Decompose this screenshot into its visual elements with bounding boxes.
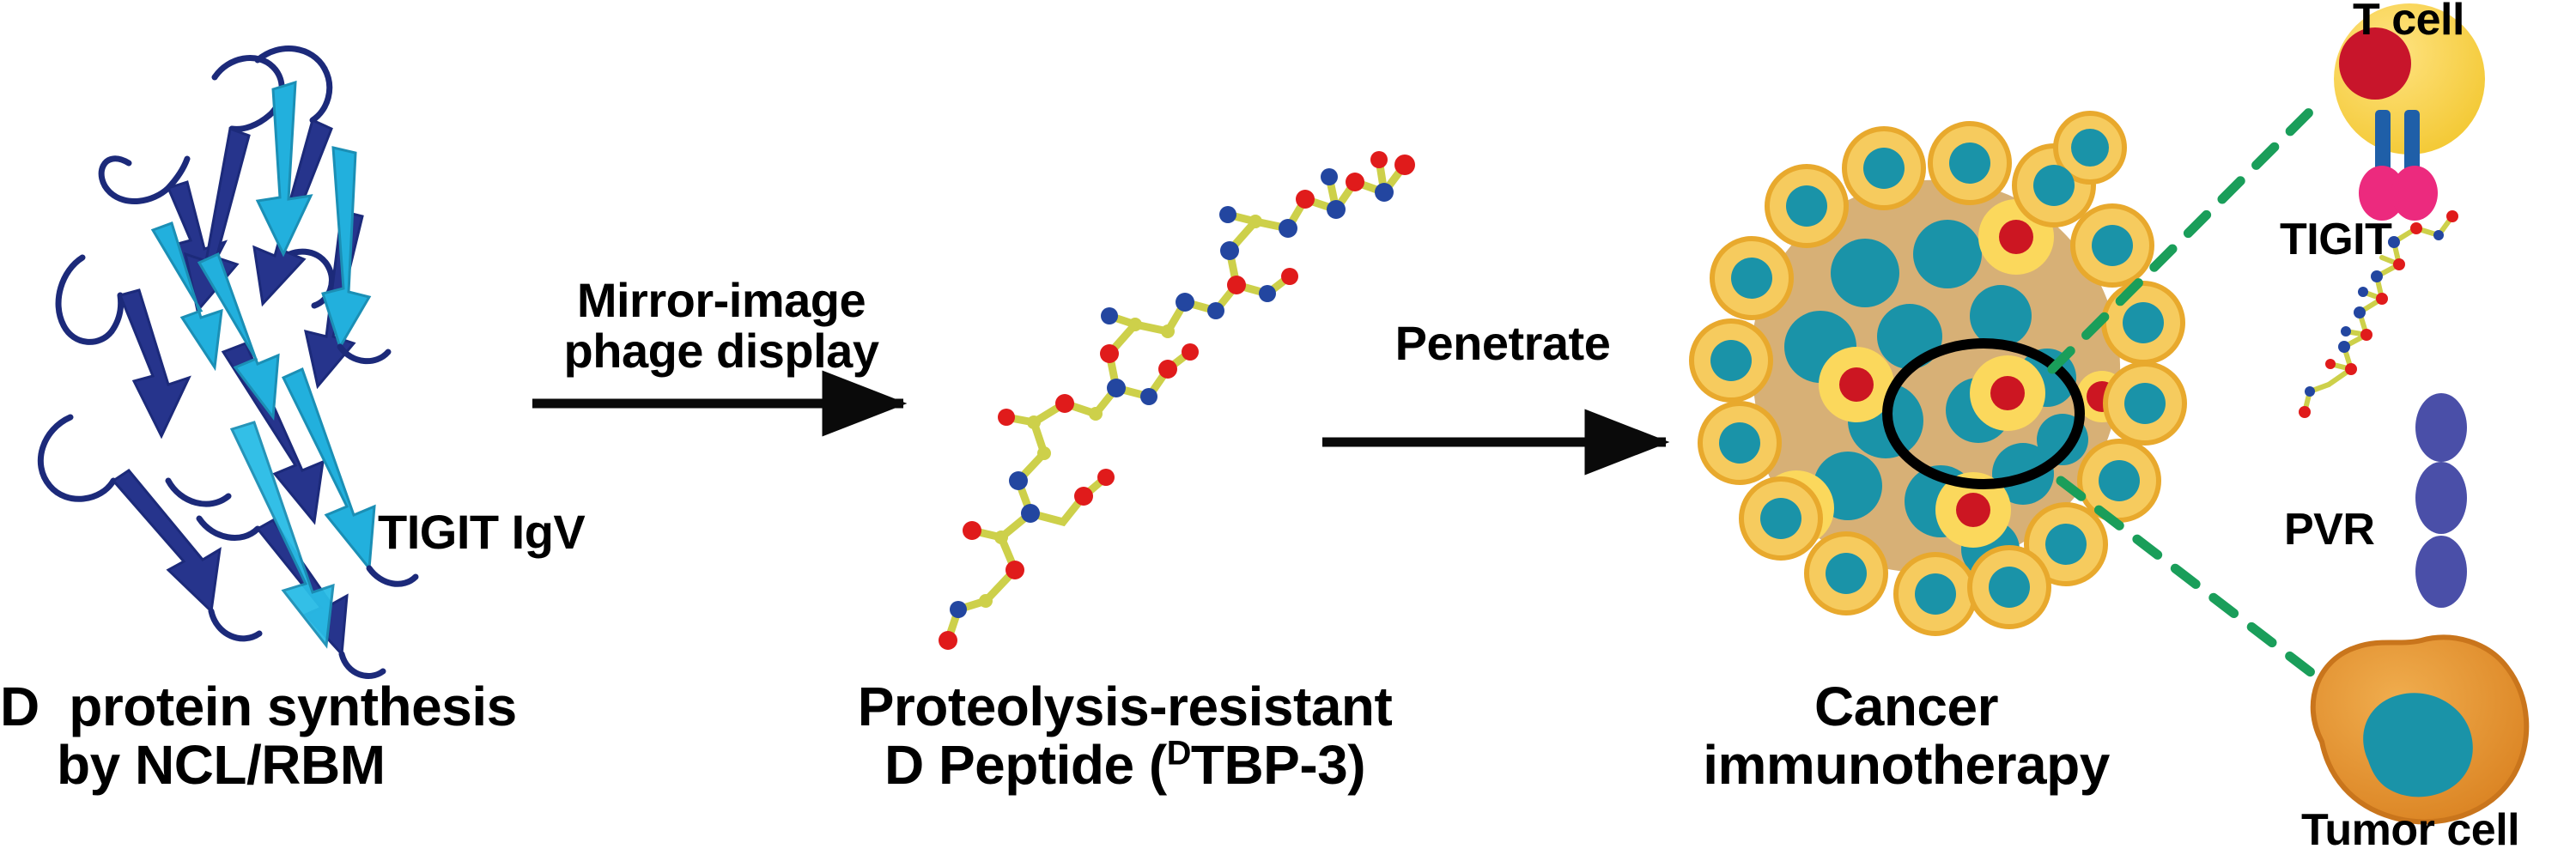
inset-label-t-cell: T cell (2353, 0, 2464, 44)
dashed-leader-line-icon (2052, 112, 2318, 678)
infiltrating-t-cell (1759, 199, 2128, 548)
panel-caption-left: D protein synthesisby NCL/RBM (0, 678, 601, 795)
arrow1-line1: Mirror-image (577, 273, 866, 327)
caption-right-line2: immunotherapy (1703, 734, 2110, 796)
caption-mid-line1: Proteolysis-resistant (858, 676, 1393, 737)
tigit-igv-ribbon-structure (40, 49, 416, 676)
arrow-label-penetrate: Penetrate (1322, 318, 1683, 368)
inset-pvr-receptor (2415, 393, 2467, 687)
d-peptide-ball-and-stick-model (939, 151, 1415, 650)
tumor-mass-with-infiltrating-t-cells (1692, 113, 2184, 634)
caption-right-line1: Cancer (1814, 676, 1998, 737)
inset-tumor-cell (2313, 638, 2527, 822)
tumor-cell-rim (1692, 113, 2184, 634)
magnifier-ring-icon (1887, 343, 2080, 484)
inset-tigit-receptor (2359, 110, 2438, 221)
caption-mid-line2-post: TBP-3) (1191, 734, 1365, 796)
tigit-igv-structure-label: TIGIT IgV (378, 506, 585, 557)
caption-left-line1: D protein synthesis (0, 676, 517, 737)
caption-mid-line2-pre: D Peptide ( (884, 734, 1167, 796)
arrow-label-mirror-image-phage-display: Mirror-imagephage display (532, 275, 910, 377)
arrow1-line2: phage display (564, 324, 879, 378)
caption-left-line2: by NCL/RBM (0, 737, 601, 795)
scientific-figure: D protein synthesisby NCL/RBM Proteolysi… (0, 0, 2576, 861)
inset-label-tumor-cell: Tumor cell (2301, 807, 2519, 854)
panel-caption-middle: Proteolysis-resistantD Peptide (DTBP-3) (799, 678, 1451, 795)
caption-mid-line2-superscript: D (1167, 735, 1191, 773)
arrow2-line1: Penetrate (1395, 316, 1611, 370)
inset-label-tigit: TIGIT (2280, 216, 2391, 264)
inset-label-pvr: PVR (2284, 506, 2374, 554)
panel-caption-right: Cancerimmunotherapy (1631, 678, 2181, 795)
